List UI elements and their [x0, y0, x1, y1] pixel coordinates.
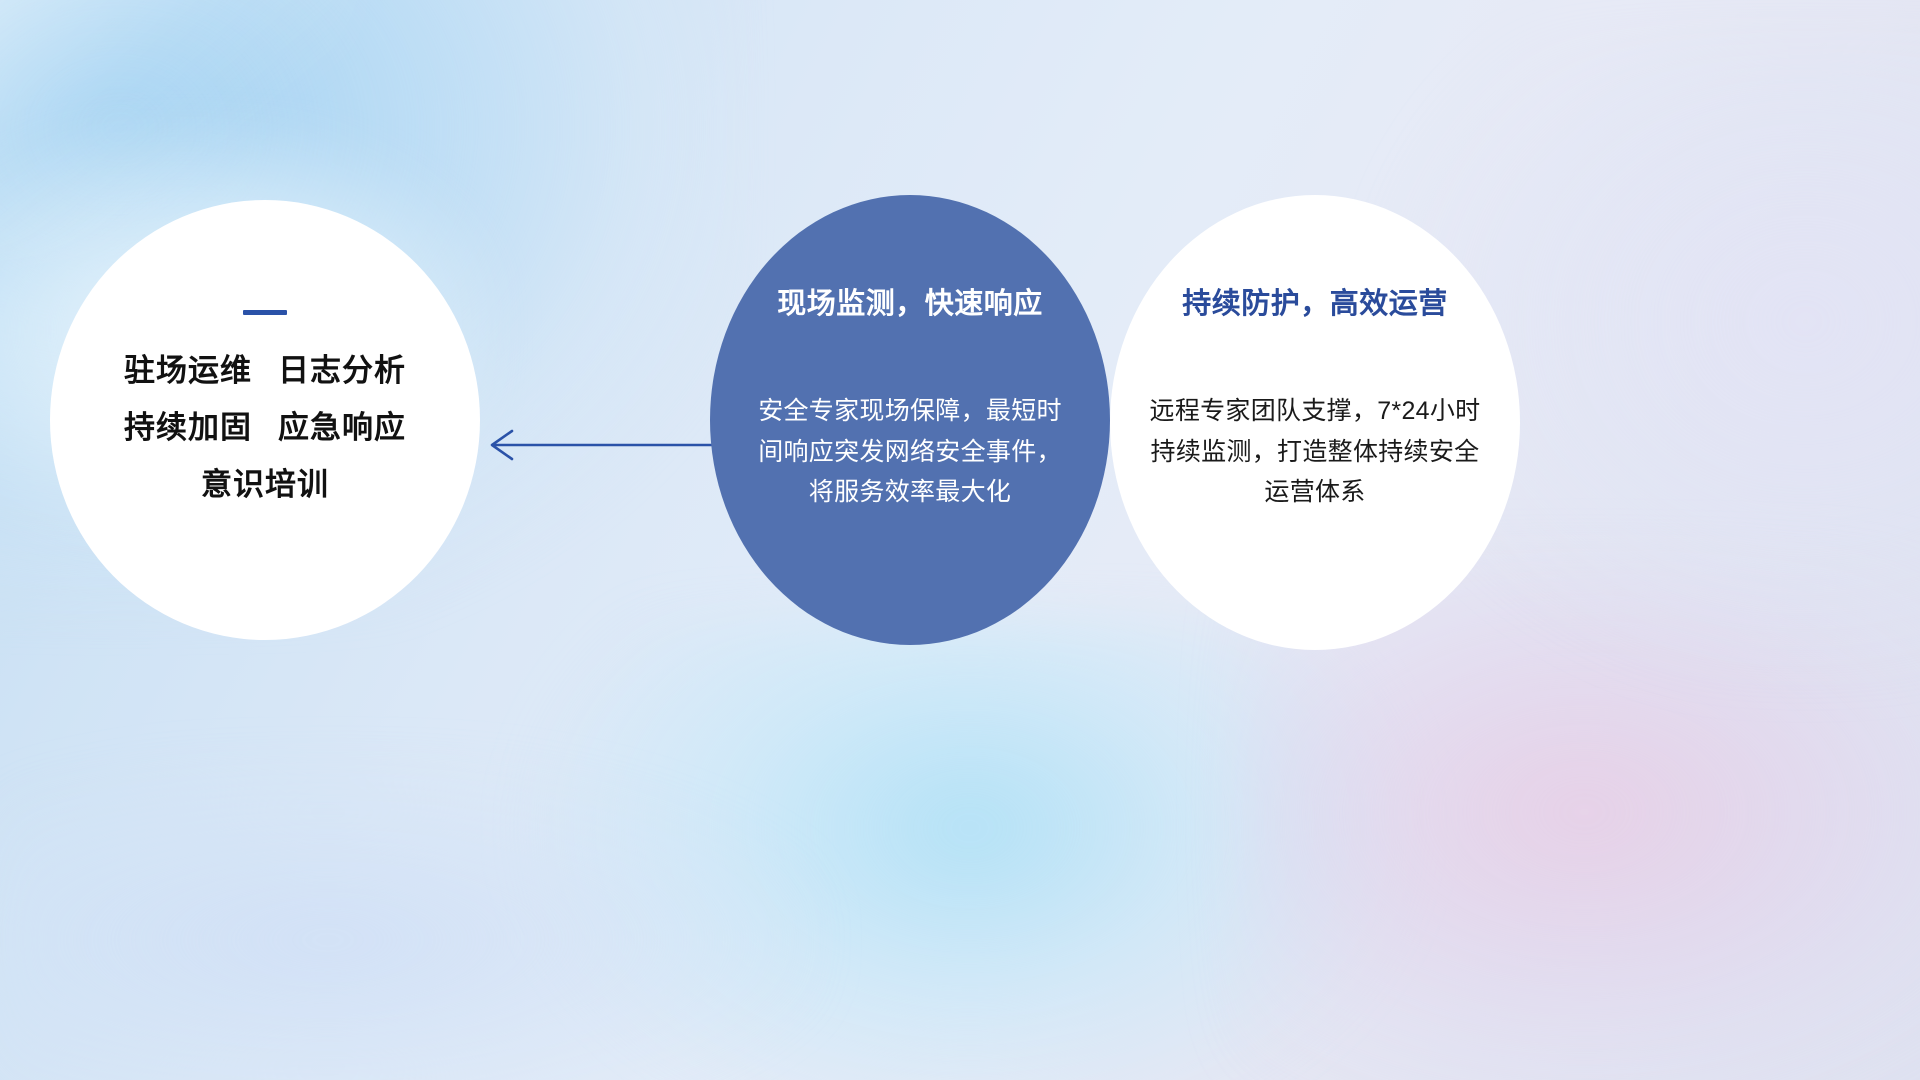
capability-row-1: 驻场运维日志分析: [124, 355, 406, 386]
middle-circle-title: 现场监测，快速响应: [777, 290, 1043, 319]
background-glow-bottom-left: [0, 760, 820, 1080]
capability-row-3: 意识培训: [201, 469, 329, 500]
capability-item-awareness-training: 意识培训: [201, 467, 329, 502]
capability-circle-left[interactable]: 驻场运维日志分析 持续加固应急响应 意识培训: [50, 200, 480, 640]
slide-canvas: 驻场运维日志分析 持续加固应急响应 意识培训 现场监测，快速响应 安全专家现场保…: [0, 0, 1920, 1080]
capability-item-log-analysis: 日志分析: [278, 353, 406, 388]
capability-row-2: 持续加固应急响应: [124, 412, 406, 443]
capability-circle-right[interactable]: 持续防护，高效运营 远程专家团队支撑，7*24小时持续监测，打造整体持续安全运营…: [1110, 195, 1520, 650]
middle-circle-body: 安全专家现场保障，最短时间响应突发网络安全事件，将服务效率最大化: [755, 391, 1065, 513]
right-circle-body: 远程专家团队支撑，7*24小时持续监测，打造整体持续安全运营体系: [1145, 391, 1485, 513]
divider-bar-icon: [243, 310, 287, 315]
capability-item-continuous-hardening: 持续加固: [124, 410, 252, 445]
capability-list: 驻场运维日志分析 持续加固应急响应 意识培训: [124, 355, 406, 500]
capability-item-emergency-response: 应急响应: [278, 410, 406, 445]
capability-item-onsite-ops: 驻场运维: [124, 353, 252, 388]
right-circle-title: 持续防护，高效运营: [1182, 290, 1448, 319]
capability-circle-middle[interactable]: 现场监测，快速响应 安全专家现场保障，最短时间响应突发网络安全事件，将服务效率最…: [710, 195, 1110, 645]
